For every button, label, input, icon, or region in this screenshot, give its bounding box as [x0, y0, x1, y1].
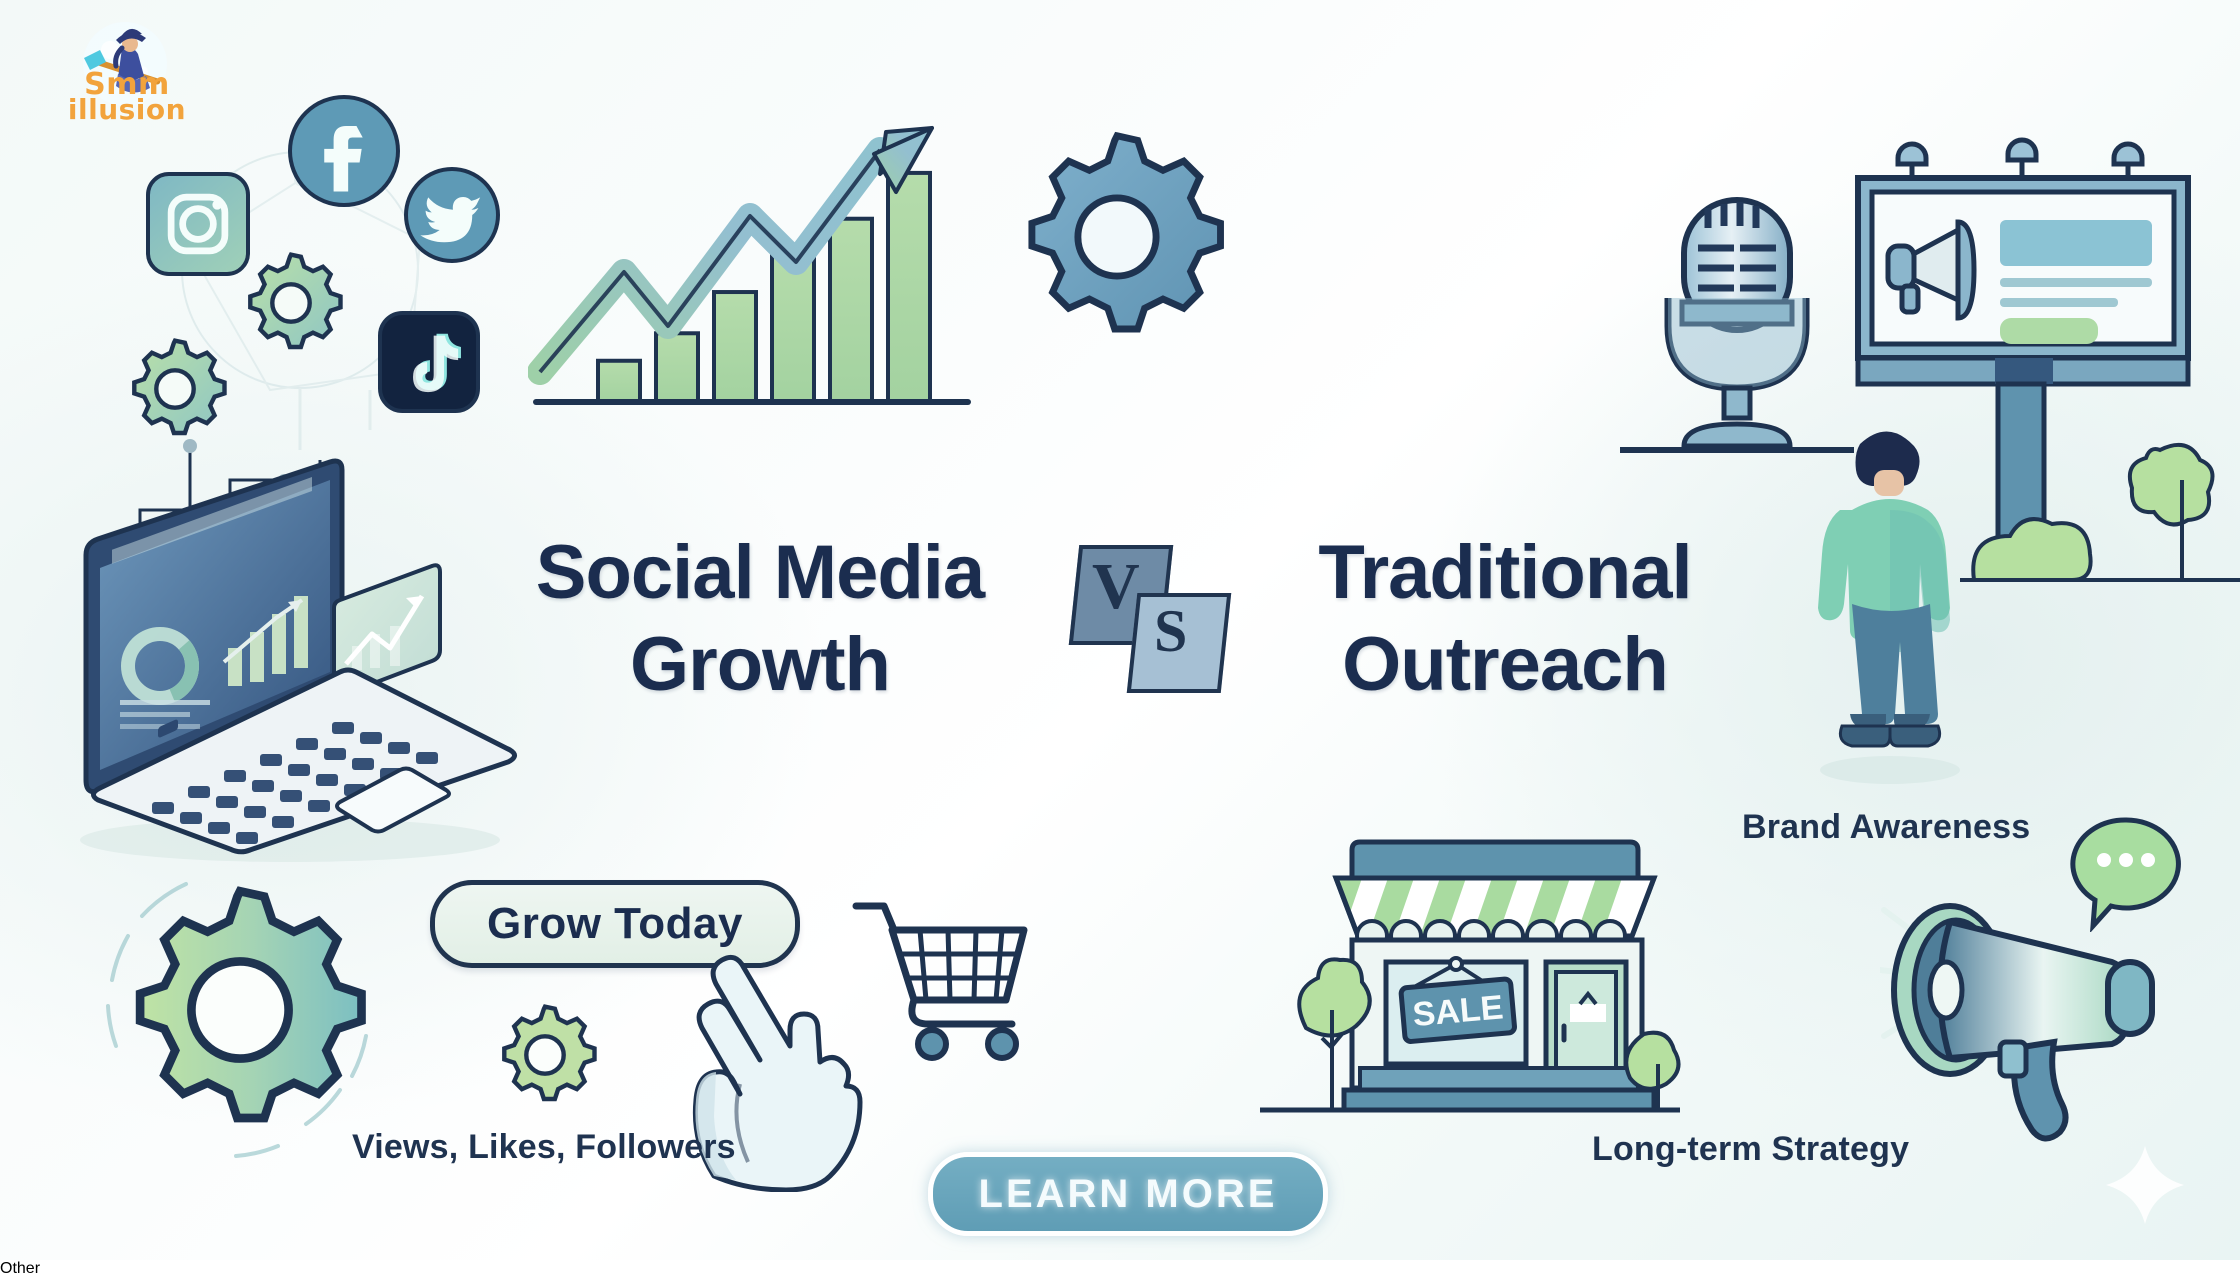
title-left-line1: Social Media	[536, 530, 984, 615]
shopping-cart-icon	[850, 892, 1030, 1072]
brand-logo[interactable]: Smm illusion	[52, 18, 202, 138]
infographic-canvas: Smm illusion	[0, 0, 2240, 1260]
chart-bar	[888, 173, 930, 402]
storefront-illustration: SALE	[1240, 828, 1690, 1138]
sale-sign-text: SALE	[1411, 988, 1505, 1034]
chart-bar	[598, 361, 640, 402]
instagram-glyph	[150, 176, 246, 272]
facebook-icon[interactable]	[288, 95, 400, 207]
versus-letter-v: V	[1092, 549, 1140, 625]
page-title-left: Social Media Growth	[480, 535, 1040, 703]
gear-icon	[1002, 122, 1232, 352]
sparkle-icon	[2100, 1140, 2190, 1230]
laptop-dashboard-illustration	[40, 450, 540, 870]
tiktok-note-glyph	[382, 315, 476, 409]
title-right-line2: Outreach	[1270, 627, 1740, 703]
gear-icon	[236, 248, 346, 358]
learn-more-label: LEARN MORE	[979, 1172, 1278, 1217]
title-left-line2: Growth	[480, 627, 1040, 703]
chart-bar	[656, 333, 698, 402]
page-title-right: Traditional Outreach	[1270, 535, 1740, 703]
versus-badge: V S	[1062, 545, 1242, 685]
chart-bar	[830, 219, 872, 402]
twitter-icon[interactable]	[404, 167, 500, 263]
caption-brand-awareness: Brand Awareness	[1742, 808, 2030, 847]
twitter-bird-glyph	[408, 171, 496, 259]
gear-icon	[490, 1000, 600, 1110]
facebook-glyph	[292, 99, 396, 203]
gear-icon	[120, 334, 230, 444]
foliage-decoration	[1960, 430, 2240, 590]
versus-letter-s: S	[1154, 597, 1187, 666]
chart-bar	[714, 292, 756, 402]
caption-views-likes-followers: Views, Likes, Followers	[352, 1128, 736, 1167]
title-right-line1: Traditional	[1318, 530, 1691, 615]
logo-text-line2: illusion	[52, 96, 202, 124]
caption-long-term-strategy: Long-term Strategy	[1592, 1130, 1909, 1169]
growth-chart-illustration	[528, 110, 978, 430]
instagram-icon[interactable]	[146, 172, 250, 276]
gear-icon	[90, 860, 390, 1160]
tiktok-icon[interactable]	[378, 311, 480, 413]
chat-bubble-icon	[2060, 812, 2190, 932]
learn-more-button[interactable]: LEARN MORE	[928, 1152, 1328, 1236]
